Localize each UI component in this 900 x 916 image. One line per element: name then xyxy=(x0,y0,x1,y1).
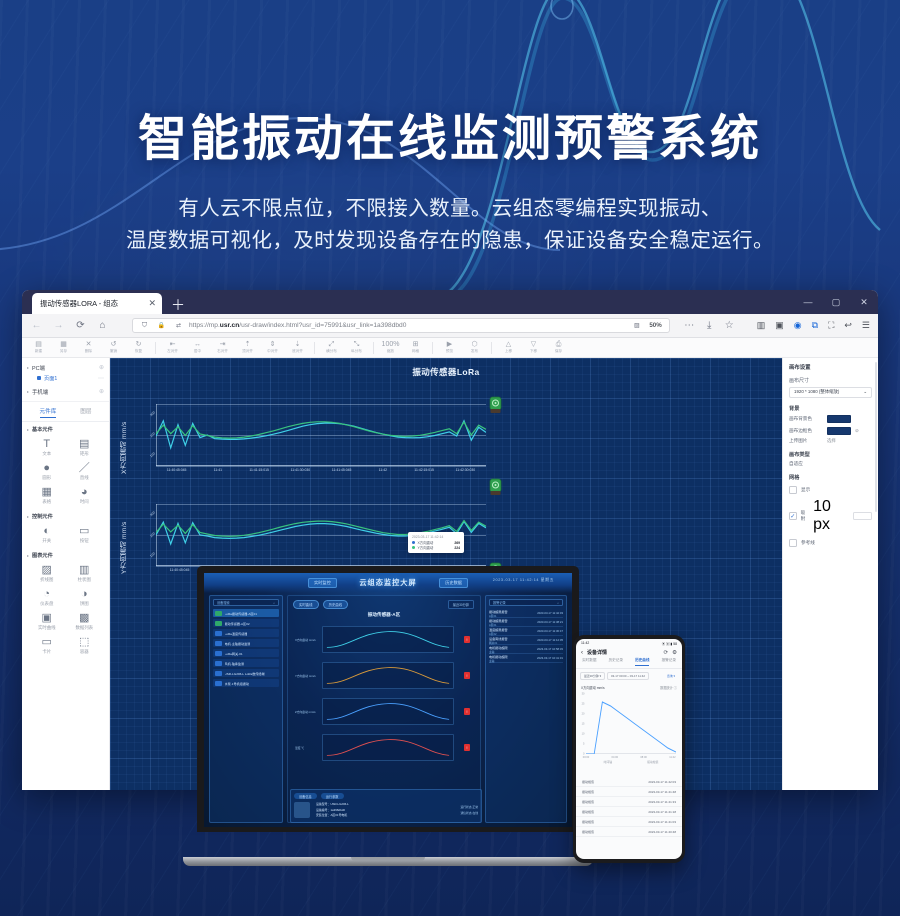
phone-chart-caption: 振动幅值 xyxy=(647,760,658,764)
browser-tabstrip: 振动传感器LORA - 组态 ✕ ＋ — ▢ ✕ xyxy=(22,290,878,314)
phone-date-chip[interactable]: 03-17 00:00 ~ 03-17 11:42 xyxy=(607,672,649,680)
alarm-time: 2023-03-17 11:12:05 xyxy=(537,638,563,642)
library-item-时间[interactable]: ◕时间 xyxy=(67,486,103,505)
account-icon[interactable]: ◉ xyxy=(794,320,802,331)
device-info-line: 设备编号：1a398dbd0 xyxy=(316,808,349,812)
component-icon: T xyxy=(43,438,50,450)
color-swatch[interactable] xyxy=(827,427,851,435)
gear-icon[interactable]: ⚙ xyxy=(672,650,677,656)
toolbar-label: 中对齐 xyxy=(267,349,278,354)
property-row: 画布背景色 xyxy=(789,415,872,423)
menu-icon[interactable]: ☰ xyxy=(862,320,870,331)
chart-y-axis-label: X方向震动 mm/s xyxy=(120,400,130,474)
library-icon[interactable]: ▥ xyxy=(757,320,766,331)
chart-x-tick: 11:41:45:045 xyxy=(332,468,352,472)
device-name: 振动传感器-A区02 xyxy=(225,621,250,626)
phone-row-time: 2023-03-17 11:40:48 xyxy=(648,830,676,834)
phone-data-row[interactable]: 振动幅值2023-03-17 11:42:03 xyxy=(576,777,682,787)
phone-screen: 11:42 ⦿ ▣ ▮ 58 ‹ 设备详情 ⟳ ⚙ 实时数据历史记录历史曲线报警… xyxy=(576,639,682,859)
tab-layers[interactable]: 图层 xyxy=(80,407,91,418)
city-skyline-decoration xyxy=(0,40,900,310)
device-status-lines: 运行状态 正常 通信状态 在线 xyxy=(460,805,478,815)
tree-label: 手机端 xyxy=(32,388,48,396)
canvas-size-label: 画布尺寸 xyxy=(789,377,872,384)
toolbar-icon: ▤ xyxy=(35,341,42,349)
device-status-chip xyxy=(215,611,222,616)
device-list-item[interactable]: 风机-轴承监测 xyxy=(213,659,279,667)
shield-icon[interactable]: ⛉ xyxy=(138,319,151,332)
toolbar-label: 删除 xyxy=(85,349,92,354)
library-item-直线[interactable]: ／直线 xyxy=(67,462,103,481)
toolbar-button-保存[interactable]: ⎙保存 xyxy=(546,341,571,354)
chevron-down-icon: ⌄ xyxy=(863,389,867,395)
mini-chart-line xyxy=(327,704,449,720)
phone-tab-历史记录[interactable]: 历史记录 xyxy=(609,658,623,666)
chart-gridline xyxy=(156,466,486,467)
dashboard-tab-realtime[interactable]: 实时监控 xyxy=(308,578,337,588)
laptop-mockup: 云组态监控大屏 实时监控 历史数据 2023-03-17 11:42:14 星期… xyxy=(183,566,593,866)
back-icon[interactable]: ‹ xyxy=(581,650,583,656)
library-item-按钮[interactable]: ▭按钮 xyxy=(67,525,103,544)
search-icon[interactable]: ⌕ xyxy=(273,601,275,605)
grid-size-input[interactable] xyxy=(853,512,872,520)
tree-label: PC端 xyxy=(32,364,45,372)
device-name: 风机-轴承监测 xyxy=(225,661,245,666)
phone-data-row[interactable]: 振动幅值2023-03-17 11:41:03 xyxy=(576,817,682,827)
phone-tab-实时数据[interactable]: 实时数据 xyxy=(582,658,596,666)
tooltip-row: Y方向震动224 xyxy=(412,545,460,550)
device-status-chip xyxy=(215,661,222,666)
window-controls: — ▢ ✕ xyxy=(794,290,878,314)
vibration-sensor-icon[interactable] xyxy=(488,478,503,497)
alarm-time: 2023-03-17 11:42:03 xyxy=(537,611,563,615)
alarm-row[interactable]: 电机振动超限主轴2023-03-17 10:41:19 xyxy=(489,654,563,663)
device-list-item[interactable]: 电机-主轴振动监测 xyxy=(213,639,279,647)
address-bar[interactable]: ⛉ 🔒 ⇄ https://mp.usr.cn/usr-draw/index.h… xyxy=(132,318,670,333)
phone-chart-y-tick: 25 xyxy=(582,703,585,706)
phone-chart-line xyxy=(586,702,676,754)
device-list-item[interactable]: 振动传感器-A区02 xyxy=(213,619,279,627)
alarm-name: 设备离线报警网关01 xyxy=(489,636,508,645)
toolbar-button-网格[interactable]: ⊞网格 xyxy=(403,341,428,354)
phone-tabs: 实时数据历史记录历史曲线报警记录 xyxy=(576,658,682,669)
library-item-矩形[interactable]: ▤矩形 xyxy=(67,438,103,457)
chart-x-tick: 11:42 xyxy=(379,468,387,472)
phone-row-label: 振动幅值 xyxy=(582,810,594,814)
phone-chart-y-tick: 15 xyxy=(582,723,585,726)
toolbar-label: 另存 xyxy=(60,349,67,354)
component-icon: ▭ xyxy=(79,525,89,537)
toolbar-separator xyxy=(155,342,156,354)
device-name: LoRa温度传感器 xyxy=(225,631,248,636)
component-icon: ▤ xyxy=(79,438,89,450)
toolbar-label: 保存 xyxy=(555,349,562,354)
alarm-name: 电机振动超限主轴 xyxy=(489,645,508,654)
mini-chart[interactable]: Z方向震动 mm/s xyxy=(322,698,454,725)
toolbar-button-横分布[interactable]: ⤢横分布 xyxy=(319,341,344,354)
phone-metric-label: X方向震动 mm/s xyxy=(581,685,605,690)
reader-mode-icon[interactable]: ⇄ xyxy=(172,319,185,332)
toolbar-label: 右对齐 xyxy=(217,349,228,354)
phone-chart: 30252015105000:0004:0008:0011:42时间轴振动幅值 xyxy=(586,694,676,754)
toolbar-icon: ▶ xyxy=(447,341,452,349)
property-row: 上传图片选择 xyxy=(789,438,872,444)
alarm-name: 温度超限报警A区02 xyxy=(489,627,508,636)
component-label: 按钮 xyxy=(80,538,89,544)
component-icon: ● xyxy=(43,462,50,474)
phone-chart-x-tick: 04:00 xyxy=(612,756,619,759)
filter-icon[interactable]: ⌕ xyxy=(557,601,559,605)
screenshot-icon[interactable]: ⛶ xyxy=(828,320,834,331)
toolbar-button-上移[interactable]: △上移 xyxy=(496,341,521,354)
tooltip-series-value: 224 xyxy=(454,546,460,550)
alarm-time: 2023-03-17 11:30:47 xyxy=(537,629,563,633)
component-label: 折线图 xyxy=(40,577,53,583)
component-icon: ◑ xyxy=(81,588,88,600)
panel-scrollbar[interactable] xyxy=(875,362,877,512)
toolbar-button-底对齐[interactable]: ⇣底对齐 xyxy=(285,341,310,354)
device-list-panel: 设备搜索 ⌕ LoRa振动传感器-A区01振动传感器-A区02LoRa温度传感器… xyxy=(209,595,283,823)
component-icon: ◐ xyxy=(43,525,50,537)
library-item-卡片[interactable]: ▭卡片 xyxy=(29,636,65,655)
phone-chart-caption: 时间轴 xyxy=(604,760,612,764)
component-label: 时间 xyxy=(80,499,89,505)
component-label: 柱状图 xyxy=(78,577,91,583)
library-grid: ◐开关▭按钮 xyxy=(27,520,104,546)
mini-chart[interactable]: X方向震动 mm/s xyxy=(322,626,454,653)
phone-chart-svg xyxy=(586,694,676,754)
library-group-header[interactable]: ▸基本元件 xyxy=(27,426,104,433)
toolbar-button-左对齐[interactable]: ⇤左对齐 xyxy=(160,341,185,354)
property-row: 画布边框色⊘ xyxy=(789,427,872,435)
alarm-panel-title: 报警记录 xyxy=(493,600,506,605)
checkbox-吸附[interactable]: ✓ xyxy=(789,512,797,520)
toolbar-button-删除[interactable]: ✕删除 xyxy=(76,341,101,354)
toolbar-separator xyxy=(432,342,433,354)
toolbar-label: 顶对齐 xyxy=(242,349,253,354)
library-item-文本[interactable]: T文本 xyxy=(29,438,65,457)
tab-component-library[interactable]: 元件库 xyxy=(40,407,57,418)
tree-item-label: 页面1 xyxy=(44,375,57,382)
phone-row-time: 2023-03-17 11:41:33 xyxy=(648,800,676,804)
refresh-icon[interactable]: ⟳ xyxy=(663,650,668,656)
device-status-chip xyxy=(215,631,222,636)
toolbar-button-缩放[interactable]: 100%缩放 xyxy=(378,341,403,354)
page-subtitle: 有人云不限点位，不限接入数量。云组态零编程实现振动、 温度数据可视化，及时发现设… xyxy=(90,193,810,257)
alarm-panel: 报警记录 ⌕ 振动超限报警A区012023-03-17 11:42:03振动超限… xyxy=(485,595,567,823)
device-info-tabs: 设备信息 运行参数 xyxy=(294,793,478,799)
component-label: 卡片 xyxy=(42,649,51,655)
toolbar-label: 纵分布 xyxy=(351,349,362,354)
minimize-icon[interactable]: — xyxy=(794,290,822,314)
library-tabs: 元件库 图层 xyxy=(22,402,109,422)
toolbar-button-下移[interactable]: ▽下移 xyxy=(521,341,546,354)
device-list-item[interactable]: LoRa温度传感器 xyxy=(213,629,279,637)
toolbar-label: 居中 xyxy=(194,349,201,354)
dashboard-tab-history[interactable]: 历史数据 xyxy=(439,578,468,588)
maximize-icon[interactable]: ▢ xyxy=(822,290,850,314)
component-icon: ▣ xyxy=(42,612,52,624)
component-label: 直线 xyxy=(80,475,89,481)
properties-heading: 画布设置 xyxy=(789,363,872,371)
zoom-level-badge[interactable]: 50% xyxy=(647,322,663,329)
new-tab-icon[interactable]: ＋ xyxy=(171,298,185,312)
chevron-right-icon: ▸ xyxy=(27,514,29,519)
checkbox-label: 显示 xyxy=(801,487,810,493)
device-name: LoRa振动传感器-A区01 xyxy=(225,611,258,616)
toolbar-icon: 100% xyxy=(382,341,400,349)
time-range-select[interactable]: 最近30分钟 xyxy=(448,600,474,609)
properties-panel: 画布设置 画布尺寸 1920 * 1080 (整体缩放) ⌄ 背景 画布背景色画… xyxy=(782,358,878,790)
device-list-item[interactable]: LoRa振动传感器-A区01 xyxy=(213,609,279,617)
phone-data-row[interactable]: 振动幅值2023-03-17 11:41:18 xyxy=(576,807,682,817)
alarm-indicator[interactable]: ! xyxy=(464,636,470,643)
device-list-item[interactable]: LoRa网关-01 xyxy=(213,649,279,657)
phone-chart-x-tick: 00:00 xyxy=(583,756,590,759)
vibration-sensor-icon[interactable] xyxy=(488,396,503,415)
dashboard: 云组态监控大屏 实时监控 历史数据 2023-03-17 11:42:14 星期… xyxy=(204,573,572,827)
tree-section-mobile[interactable]: ▸ 手机端 ⊕ xyxy=(27,386,104,397)
property-value[interactable]: ⊘ xyxy=(855,428,859,434)
tree-section-pc[interactable]: ▸ PC端 ⊕ xyxy=(27,362,104,373)
library-item-表格[interactable]: ▦表格 xyxy=(29,486,65,505)
checkbox-参考线[interactable] xyxy=(789,539,797,547)
toolbar-button-预览[interactable]: ▶预览 xyxy=(437,341,462,354)
device-name: LoRa网关-01 xyxy=(225,651,243,656)
page-title: 智能振动在线监测预警系统 xyxy=(0,99,900,170)
chart-x-tick: 11:41:30:030 xyxy=(291,468,311,472)
phone-query-button[interactable]: 查询 ▾ xyxy=(664,673,678,679)
library-item-饼图[interactable]: ◑饼图 xyxy=(67,588,103,607)
alarm-indicator[interactable]: ! xyxy=(464,672,470,679)
library-group-label: 控制元件 xyxy=(32,513,53,520)
library-item-容器[interactable]: ⬚容器 xyxy=(67,636,103,655)
toolbar-button-顶对齐[interactable]: ⇡顶对齐 xyxy=(235,341,260,354)
component-icon: ▨ xyxy=(42,564,52,576)
dashboard-title: 云组态监控大屏 xyxy=(359,578,416,588)
tab-device-info[interactable]: 设备信息 xyxy=(294,793,317,799)
toolbar-icon: ✕ xyxy=(86,341,92,349)
checkbox-显示[interactable] xyxy=(789,486,797,494)
phone-range-chip[interactable]: 最近30分钟 ▾ xyxy=(580,672,605,680)
toolbar-icon: ⇥ xyxy=(220,341,226,349)
mini-chart[interactable]: 温度 ℃ xyxy=(322,734,454,761)
device-status-chip xyxy=(215,641,222,646)
tracking-protection-icon[interactable]: ▨ xyxy=(630,319,643,332)
device-status-chip xyxy=(215,621,222,626)
device-name: 水泵-1号机组振动 xyxy=(225,681,249,686)
alarm-name: 振动超限报警A区01 xyxy=(489,609,508,618)
dashboard-clock: 2023-03-17 11:42:14 星期五 xyxy=(493,578,554,583)
phone-clock: 11:42 xyxy=(581,641,589,645)
save-to-pocket-icon[interactable]: ⤓ xyxy=(703,319,716,332)
phone-tab-报警记录[interactable]: 报警记录 xyxy=(662,658,676,666)
canvas-type-value[interactable]: 自适应 xyxy=(789,461,872,467)
canvas-title: 振动传感器LoRa xyxy=(110,366,782,378)
library-group-label: 基本元件 xyxy=(32,426,53,433)
alarm-indicator[interactable]: ! xyxy=(464,744,470,751)
toolbar-label: 预览 xyxy=(446,349,453,354)
home-icon[interactable]: ⌂ xyxy=(96,319,109,332)
page-tree: ▸ PC端 ⊕ 页面1 ⋯ ▸ 手机端 ⊕ xyxy=(22,358,109,402)
device-info-line: 安装位置：A区01号电机 xyxy=(316,813,349,817)
device-list-item[interactable]: 水泵-1号机组振动 xyxy=(213,679,279,687)
forward-icon[interactable]: → xyxy=(52,319,65,332)
color-swatch[interactable] xyxy=(827,415,851,423)
library-group-header[interactable]: ▸图表元件 xyxy=(27,552,104,559)
tab-realtime-curve[interactable]: 实时曲线 xyxy=(293,600,319,609)
toolbar-icon: ⎙ xyxy=(556,341,562,349)
library-item-实时曲线[interactable]: ▣实时曲线 xyxy=(29,612,65,631)
library-item-圆形[interactable]: ●圆形 xyxy=(29,462,65,481)
toolbar-label: 撤销 xyxy=(110,349,117,354)
chart-tooltip: 2023-03-17 11:42:14X方向震动269Y方向震动224 xyxy=(408,532,464,553)
component-label: 表格 xyxy=(42,499,51,505)
alarm-name: 电机振动超限主轴 xyxy=(489,654,508,663)
mini-chart-svg xyxy=(323,663,453,688)
chart-x-tick: 11:42:30:030 xyxy=(456,468,476,472)
phone-data-rows: 振动幅值2023-03-17 11:42:03振动幅值2023-03-17 11… xyxy=(576,777,682,859)
chevron-right-icon: ▸ xyxy=(27,427,29,432)
library-item-折线图[interactable]: ▨折线图 xyxy=(29,564,65,583)
phone-filters: 最近30分钟 ▾ 03-17 00:00 ~ 03-17 11:42 查询 ▾ xyxy=(576,669,682,683)
component-icon: ◕ xyxy=(81,486,88,498)
device-search-input[interactable]: 设备搜索 ⌕ xyxy=(213,599,279,606)
property-label: 画布背景色 xyxy=(789,416,823,422)
toolbar-label: 网格 xyxy=(412,349,419,354)
phone-chart-y-tick: 30 xyxy=(582,693,585,696)
toolbar-separator xyxy=(314,342,315,354)
toolbar-button-撤销[interactable]: ↺撤销 xyxy=(101,341,126,354)
tab-close-icon[interactable]: ✕ xyxy=(148,299,156,308)
component-label: 饼图 xyxy=(80,601,89,607)
library-group-label: 图表元件 xyxy=(32,552,53,559)
library-group-header[interactable]: ▸控制元件 xyxy=(27,513,104,520)
toolbar-button-新建[interactable]: ▤新建 xyxy=(26,341,51,354)
phone-page-title: 设备详情 xyxy=(587,649,607,656)
tab-run-params[interactable]: 运行参数 xyxy=(321,793,344,799)
toolbar-icon: ⊞ xyxy=(413,341,419,349)
component-label: 容器 xyxy=(80,649,89,655)
extension-icon[interactable]: ⧉ xyxy=(812,320,818,331)
toolbar-icon: ↔ xyxy=(194,341,201,349)
alarm-panel-header: 报警记录 ⌕ xyxy=(489,599,563,606)
library-item-数据列表[interactable]: ▩数据列表 xyxy=(67,612,103,631)
component-label: 矩形 xyxy=(80,451,89,457)
phone-stats-link[interactable]: 数据统计 ⓘ xyxy=(660,685,677,690)
device-icon xyxy=(294,802,310,818)
library-group: ▸基本元件T文本▤矩形●圆形／直线▦表格◕时间 xyxy=(22,422,109,509)
toolbar-button-另存[interactable]: ▦另存 xyxy=(51,341,76,354)
phone-row-label: 振动幅值 xyxy=(582,800,594,804)
mini-chart-line xyxy=(327,632,449,648)
device-info-panel: 设备信息 运行参数 设备型号：USR-LG206-L 设备编号：1a398dbd… xyxy=(290,789,482,823)
chart-x-tick: 11:41:15:015 xyxy=(249,468,269,472)
url-text: https://mp.usr.cn/usr-draw/index.html?us… xyxy=(189,322,626,329)
grid-section-label: 网格 xyxy=(789,474,872,481)
reload-icon[interactable]: ⟳ xyxy=(74,319,87,332)
alarm-time: 2023-03-17 10:41:19 xyxy=(537,656,563,660)
toolbar-separator xyxy=(491,342,492,354)
phone-mockup: 11:42 ⦿ ▣ ▮ 58 ‹ 设备详情 ⟳ ⚙ 实时数据历史记录历史曲线报警… xyxy=(573,635,685,863)
lock-icon: 🔒 xyxy=(155,319,168,332)
left-panel: ▸ PC端 ⊕ 页面1 ⋯ ▸ 手机端 ⊕ 元件库 图层 xyxy=(22,358,110,790)
component-icon: ／ xyxy=(79,462,90,474)
sidebar-icon[interactable]: ▣ xyxy=(775,320,784,331)
mini-chart-line xyxy=(327,740,449,756)
component-label: 仪表盘 xyxy=(40,601,53,607)
device-status-chip xyxy=(215,651,222,656)
phone-data-row[interactable]: 振动幅值2023-03-17 11:41:48 xyxy=(576,787,682,797)
laptop-trackpad-notch xyxy=(351,857,425,861)
chevron-right-icon: ▸ xyxy=(27,553,29,558)
component-label: 开关 xyxy=(42,538,51,544)
phone-data-row[interactable]: 振动幅值2023-03-17 11:41:33 xyxy=(576,797,682,807)
phone-tab-历史曲线[interactable]: 历史曲线 xyxy=(635,658,649,666)
property-value[interactable]: 选择 xyxy=(827,438,836,444)
add-page-icon[interactable]: ⊕ xyxy=(99,388,104,395)
library-group: ▸控制元件◐开关▭按钮 xyxy=(22,509,109,548)
page-menu-icon[interactable]: ⋯ xyxy=(98,375,104,382)
phone-data-row[interactable]: 振动幅值2023-03-17 11:40:48 xyxy=(576,827,682,837)
component-icon: ▥ xyxy=(79,564,89,576)
phone-chart-x-tick: 11:42 xyxy=(669,756,675,759)
chart-tabs: 实时曲线 历史曲线 xyxy=(293,600,348,609)
bookmark-star-icon[interactable]: ☆ xyxy=(723,319,736,332)
laptop-screen: 云组态监控大屏 实时监控 历史数据 2023-03-17 11:42:14 星期… xyxy=(197,566,579,832)
back-icon[interactable]: ← xyxy=(30,319,43,332)
mini-chart-svg xyxy=(323,699,453,724)
phone-chart-y-tick: 10 xyxy=(582,733,585,736)
overflow-icon[interactable]: ⋯ xyxy=(683,319,696,332)
canvas-type-label: 画布类型 xyxy=(789,451,872,458)
browser-toolbar-right: ▥ ▣ ◉ ⧉ ⛶ ↩ ☰ xyxy=(745,320,870,331)
mini-chart-y-label: Y方向震动 mm/s xyxy=(295,674,316,678)
toolbar-button-发布[interactable]: ⬡发布 xyxy=(462,341,487,354)
tree-item-page1[interactable]: 页面1 ⋯ xyxy=(27,373,104,383)
grid-checkboxes: 显示✓吸附10 px参考线 xyxy=(789,486,872,547)
library-item-柱状图[interactable]: ▥柱状图 xyxy=(67,564,103,583)
add-page-icon[interactable]: ⊕ xyxy=(99,364,104,371)
chevron-right-icon: ▸ xyxy=(27,365,29,370)
toolbar-button-恢复[interactable]: ↻恢复 xyxy=(126,341,151,354)
close-icon[interactable]: ✕ xyxy=(850,290,878,314)
canvas-size-select[interactable]: 1920 * 1080 (整体缩放) ⌄ xyxy=(789,387,872,398)
toolbar-button-纵分布[interactable]: ⤡纵分布 xyxy=(344,341,369,354)
tab-history-curve[interactable]: 历史曲线 xyxy=(323,600,349,609)
toolbar-label: 下移 xyxy=(530,349,537,354)
library-group: ▸图表元件▨折线图▥柱状图◔仪表盘◑饼图▣实时曲线▩数据列表▭卡片⬚容器 xyxy=(22,548,109,659)
alarm-indicator[interactable]: ! xyxy=(464,708,470,715)
toolbar-button-中对齐[interactable]: ⇕中对齐 xyxy=(260,341,285,354)
library-item-仪表盘[interactable]: ◔仪表盘 xyxy=(29,588,65,607)
component-label: 圆形 xyxy=(42,475,51,481)
device-list-item[interactable]: USR-LG206-L LoRa数传终端 xyxy=(213,669,279,677)
device-name: USR-LG206-L LoRa数传终端 xyxy=(225,671,265,676)
mini-chart[interactable]: Y方向震动 mm/s xyxy=(322,662,454,689)
toolbar-button-居中[interactable]: ↔居中 xyxy=(185,341,210,354)
phone-row-label: 振动幅值 xyxy=(582,820,594,824)
phone-nav-actions: ⟳ ⚙ xyxy=(663,650,677,656)
library-item-开关[interactable]: ◐开关 xyxy=(29,525,65,544)
chart-x-tick: 11:42:15:015 xyxy=(414,468,434,472)
property-label: 上传图片 xyxy=(789,438,823,444)
browser-tab[interactable]: 振动传感器LORA - 组态 ✕ xyxy=(32,293,162,314)
mini-chart-line xyxy=(327,668,449,684)
toolbar-button-右对齐[interactable]: ⇥右对齐 xyxy=(210,341,235,354)
canvas-chart-1[interactable]: X方向震动 mm/s30020010011:40:45:04511:4111:4… xyxy=(118,398,518,486)
undo-icon[interactable]: ↩ xyxy=(844,320,852,331)
